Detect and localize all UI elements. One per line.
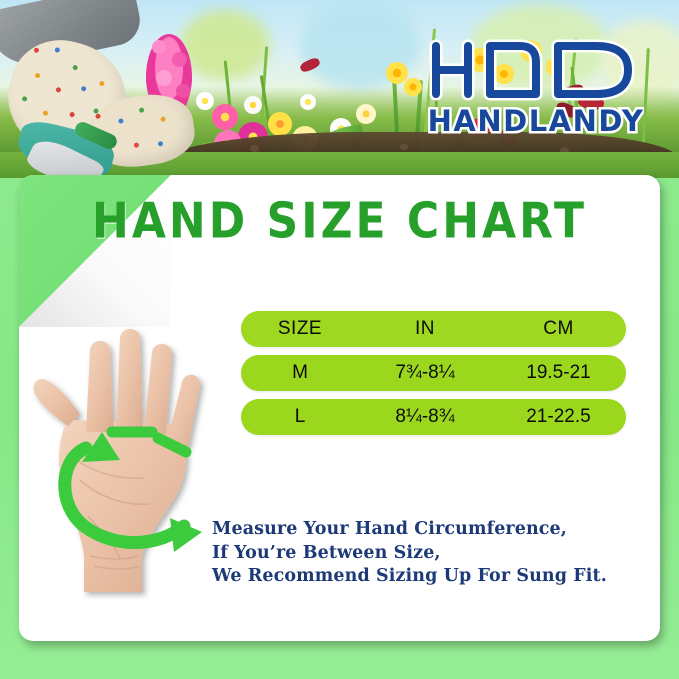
petal xyxy=(156,70,172,86)
garden-photo-banner: HANDLANDY xyxy=(0,0,679,178)
cell-size: M xyxy=(241,362,359,384)
primrose-flower xyxy=(300,94,316,110)
primrose-flower xyxy=(244,96,262,114)
instruction-line-1: Measure Your Hand Circumference, xyxy=(212,518,642,542)
column-header-size: SIZE xyxy=(241,318,359,340)
cell-inches: 7¾-8¼ xyxy=(359,362,491,384)
brand-name-text: HANDLANDY xyxy=(428,104,644,138)
soil-speck xyxy=(250,145,259,152)
table-row: L 8¼-8¾ 21-22.5 xyxy=(241,399,626,435)
petal xyxy=(176,84,190,98)
cell-centimeters: 19.5-21 xyxy=(491,362,626,384)
column-header-in: IN xyxy=(359,318,491,340)
petal xyxy=(152,40,166,54)
hand-silhouette xyxy=(34,329,201,592)
primrose-flower xyxy=(268,112,292,136)
open-palm-with-circumference-arrow xyxy=(24,320,230,600)
measurement-instructions: Measure Your Hand Circumference, If You’… xyxy=(212,518,642,589)
instruction-line-2: If You’re Between Size, xyxy=(212,542,642,566)
hand-size-chart-page: HANDLANDY HAND SIZE CHART xyxy=(0,0,679,679)
primrose-flower xyxy=(356,104,376,124)
column-header-cm: CM xyxy=(491,318,626,340)
cell-centimeters: 21-22.5 xyxy=(491,406,626,428)
size-table: SIZE IN CM M 7¾-8¼ 19.5-21 L 8¼-8¾ 21-22… xyxy=(241,311,626,443)
handlandy-logo: HANDLANDY xyxy=(428,36,644,140)
page-title: HAND SIZE CHART xyxy=(0,193,679,250)
primrose-flower xyxy=(196,92,214,110)
instruction-line-3: We Recommend Sizing Up For Sung Fit. xyxy=(212,565,642,589)
daffodil-flower xyxy=(386,62,408,84)
primrose-flower xyxy=(212,104,238,130)
cell-inches: 8¼-8¾ xyxy=(359,406,491,428)
cell-size: L xyxy=(241,406,359,428)
table-row: M 7¾-8¼ 19.5-21 xyxy=(241,355,626,391)
table-header-row: SIZE IN CM xyxy=(241,311,626,347)
soil-speck xyxy=(400,144,408,150)
petal xyxy=(172,52,187,67)
daffodil-flower xyxy=(404,78,422,96)
